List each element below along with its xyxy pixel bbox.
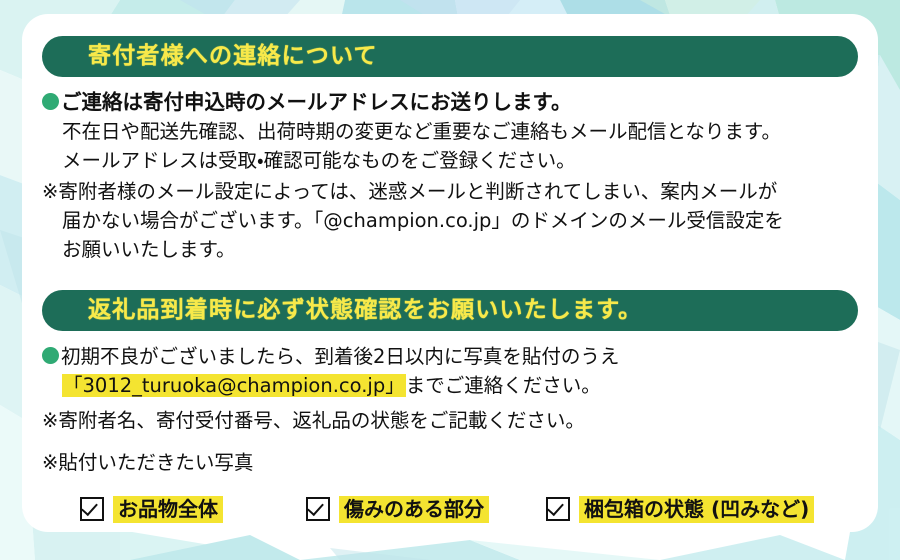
content-layer: 寄付者様への連絡について ご連絡は寄付申込時のメールアドレスにお送りします。 不… bbox=[22, 14, 878, 532]
checklist-item-whole-product[interactable]: お品物全体 bbox=[80, 492, 223, 526]
photo-checklist: お品物全体 傷みのある部分 梱包箱の状態 (凹みなど) bbox=[80, 492, 870, 526]
section-heading-contact: 寄付者様への連絡について bbox=[42, 36, 858, 77]
inspection-primary-line-1: 初期不良がございましたら、到着後2日以内に写真を貼付のうえ bbox=[42, 342, 619, 371]
contact-primary-block: ご連絡は寄付申込時のメールアドレスにお送りします。 bbox=[42, 88, 571, 117]
checkbox-checked-icon[interactable] bbox=[546, 497, 570, 521]
checklist-label-whole-product: お品物全体 bbox=[113, 496, 223, 523]
bullet-dot-icon bbox=[42, 347, 59, 364]
contact-note-line-2: 届かない場合がございます。「@champion.co.jp」のドメインのメール受… bbox=[42, 206, 784, 235]
section-heading-inspection-label: 返礼品到着時に必ず状態確認をお願いいたします。 bbox=[42, 299, 642, 322]
section-heading-contact-label: 寄付者様への連絡について bbox=[42, 45, 378, 68]
contact-note-block: ※寄附者様のメール設定によっては、迷惑メールと判断されてしまい、案内メールが 届… bbox=[42, 177, 784, 264]
contact-primary-line-1: ご連絡は寄付申込時のメールアドレスにお送りします。 bbox=[42, 88, 571, 117]
checkbox-checked-icon[interactable] bbox=[80, 497, 104, 521]
inspection-email-line: 「3012_turuoka@champion.co.jp」までご連絡ください。 bbox=[42, 371, 619, 400]
contact-note-line-1: ※寄附者様のメール設定によっては、迷惑メールと判断されてしまい、案内メールが bbox=[42, 177, 784, 206]
inspection-email-tail: までご連絡ください。 bbox=[406, 374, 601, 397]
contact-primary-line-3: メールアドレスは受取・確認可能なものをご登録ください。 bbox=[62, 146, 781, 175]
infographic-stage: 寄付者様への連絡について ご連絡は寄付申込時のメールアドレスにお送りします。 不… bbox=[0, 0, 900, 560]
bullet-dot-icon bbox=[42, 93, 59, 110]
contact-primary-line-2: 不在日や配送先確認、出荷時期の変更など重要なご連絡もメール配信となります。 bbox=[62, 117, 781, 146]
contact-primary-detail: 不在日や配送先確認、出荷時期の変更など重要なご連絡もメール配信となります。 メー… bbox=[62, 117, 781, 175]
photo-request-line-1: ※貼付いただきたい写真 bbox=[42, 448, 253, 477]
photo-request-block: ※貼付いただきたい写真 bbox=[42, 448, 253, 477]
inspection-primary-block: 初期不良がございましたら、到着後2日以内に写真を貼付のうえ 「3012_turu… bbox=[42, 342, 619, 400]
checklist-item-damaged-area[interactable]: 傷みのある部分 bbox=[306, 492, 489, 526]
contact-email-highlight: 「3012_turuoka@champion.co.jp」 bbox=[62, 374, 406, 397]
inspection-note-line-1: ※寄附者名、寄付受付番号、返礼品の状態をご記載ください。 bbox=[42, 406, 585, 435]
checklist-label-box-condition: 梱包箱の状態 (凹みなど) bbox=[579, 496, 814, 523]
checkbox-checked-icon[interactable] bbox=[306, 497, 330, 521]
checklist-label-damaged-area: 傷みのある部分 bbox=[339, 496, 489, 523]
section-heading-inspection: 返礼品到着時に必ず状態確認をお願いいたします。 bbox=[42, 290, 858, 331]
checklist-item-box-condition[interactable]: 梱包箱の状態 (凹みなど) bbox=[546, 492, 814, 526]
inspection-note-block: ※寄附者名、寄付受付番号、返礼品の状態をご記載ください。 bbox=[42, 406, 585, 435]
contact-note-line-3: お願いいたします。 bbox=[42, 235, 784, 264]
